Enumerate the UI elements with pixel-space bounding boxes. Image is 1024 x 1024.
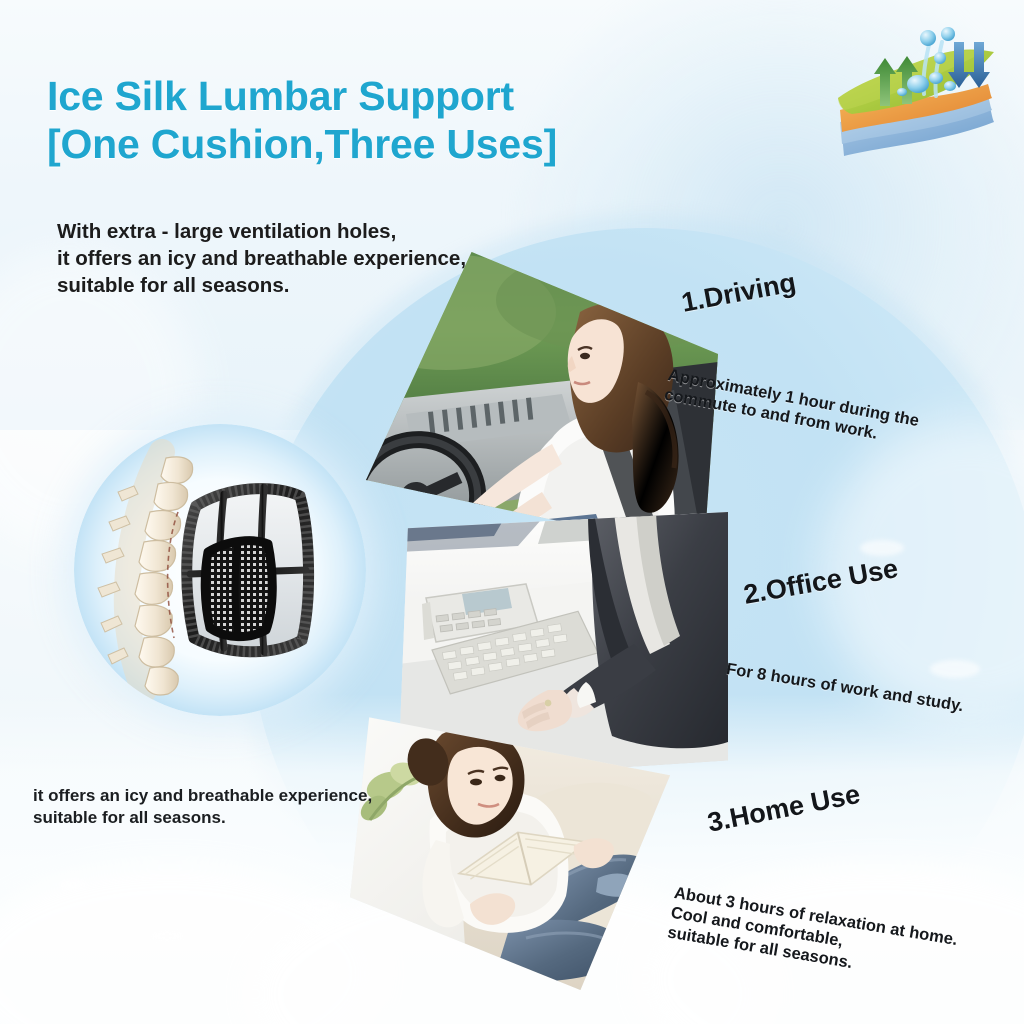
poster-title: Ice Silk Lumbar Support [One Cushion,Thr… [47,72,687,169]
footnote-line-2: suitable for all seasons. [33,807,453,829]
title-line-2: [One Cushion,Three Uses] [47,120,687,168]
use-case-driving: 1.Driving Approximately 1 hour during th… [682,288,925,405]
breathable-fabric-layers-icon [832,22,1012,172]
ice-speck [150,930,184,942]
footnote-line-1: it offers an icy and breathable experien… [33,785,453,807]
spine-and-lumbar-cushion-illustration [74,424,366,716]
ice-speck [60,880,86,890]
product-illustration-circle [74,424,366,716]
infographic-poster: Ice Silk Lumbar Support [One Cushion,Thr… [0,0,1024,1024]
ice-speck [300,900,340,912]
intro-line-1: With extra - large ventilation holes, [57,218,577,245]
use-case-home: 3.Home Use About 3 hours of relaxation a… [708,808,963,943]
title-line-1: Ice Silk Lumbar Support [47,73,514,119]
footnote-caption: it offers an icy and breathable experien… [33,785,453,829]
use-case-office: 2.Office Use For 8 hours of work and stu… [744,580,968,679]
